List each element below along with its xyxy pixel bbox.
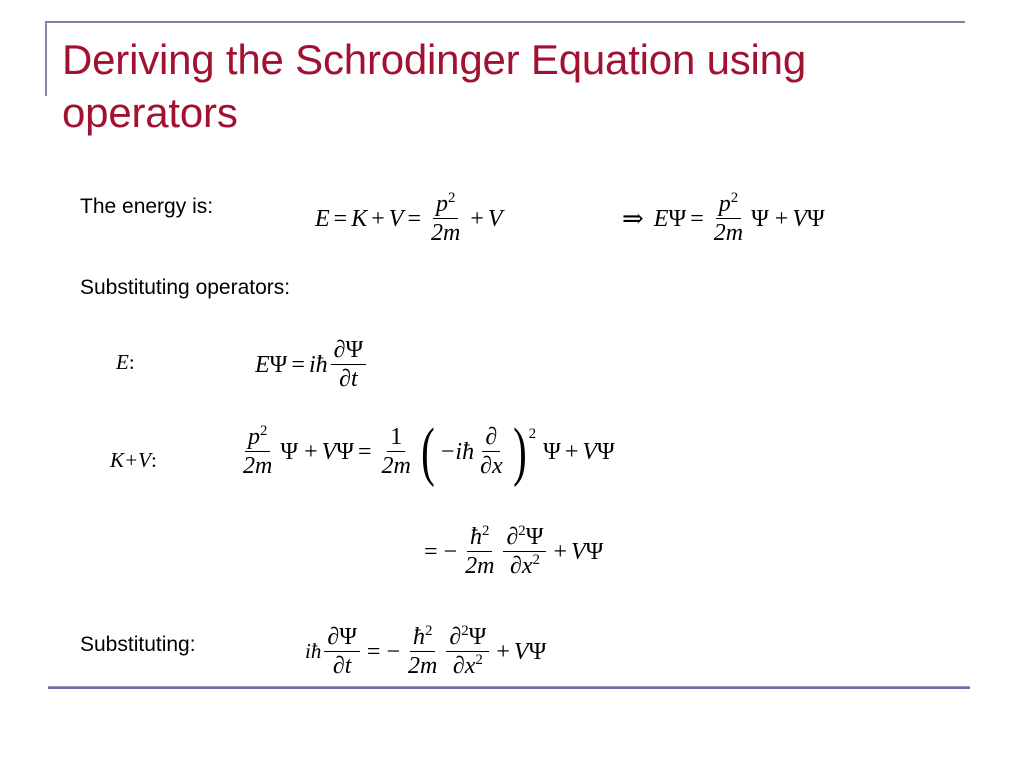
eqE-psi: Ψ: [270, 353, 288, 377]
eq2-psi-3: Ψ: [807, 207, 825, 231]
label-the-energy-is: The energy is:: [80, 195, 213, 219]
slide-canvas: Deriving the Schrodinger Equation using …: [0, 0, 1024, 768]
eqR-psi: Ψ: [586, 540, 604, 564]
eqKV-minus: −: [439, 440, 456, 464]
eqF-plus: +: [492, 640, 514, 664]
eqF-psi: Ψ: [529, 640, 547, 664]
fraction-numerator: p2: [433, 192, 458, 219]
eqR-equals: =: [420, 540, 442, 564]
fraction-denominator: 2m: [379, 452, 414, 479]
eq2-psi-2: Ψ: [749, 207, 771, 231]
eqF-equals: =: [363, 640, 385, 664]
fraction-denominator: ∂x: [477, 452, 506, 479]
fraction-denominator: 2m: [428, 219, 463, 246]
fraction-numerator: ∂Ψ: [331, 338, 367, 365]
equation-kinetic-potential-operator: p2 2m Ψ + V Ψ = 1 2m ( − i ħ ∂ ∂x ) 2 Ψ …: [237, 425, 615, 479]
fraction-denominator: ∂x2: [450, 652, 486, 679]
fraction-hbar2-over-2m-2: ħ2 2m: [405, 625, 440, 679]
top-divider-rule: [45, 21, 965, 23]
fraction-denominator: ∂t: [330, 652, 355, 679]
eq-K: K: [351, 207, 367, 231]
eqKV-plus-1: +: [300, 440, 322, 464]
eqR-minus: −: [442, 540, 460, 564]
equation-energy-with-psi: ⇒ E Ψ = p2 2m Ψ + V Ψ: [622, 192, 825, 246]
equation-energy-definition: E = K + V = p2 2m + V: [315, 192, 503, 246]
equation-schrodinger-final: i ħ ∂Ψ ∂t = − ħ2 2m ∂2Ψ ∂x2 + V Ψ: [305, 625, 546, 679]
numerator-p: p: [436, 191, 448, 217]
numerator-exponent: 2: [260, 423, 267, 439]
fraction-numerator: ∂2Ψ: [503, 525, 546, 552]
denominator-partial-x: ∂x: [510, 553, 533, 579]
eqR-V: V: [571, 540, 586, 564]
fraction-numerator: ∂Ψ: [324, 625, 360, 652]
fraction-p2-over-2m: p2 2m: [428, 192, 463, 246]
eqKV-V-2: V: [582, 440, 597, 464]
row-label-KV-text: K+V: [110, 448, 151, 472]
eqKV-psi-2: Ψ: [336, 440, 354, 464]
numerator-psi: Ψ: [526, 524, 544, 550]
numerator-exponent: 2: [731, 190, 738, 206]
eq2-V: V: [792, 207, 807, 231]
bottom-divider-rule: [48, 686, 970, 689]
denominator-exponent: 2: [532, 552, 539, 568]
fraction-numerator: ∂: [482, 425, 500, 452]
fraction-numerator: p2: [245, 425, 270, 452]
fraction-denominator: ∂t: [336, 365, 361, 392]
paren-open: (: [421, 432, 435, 473]
eq2-psi: Ψ: [668, 207, 686, 231]
left-accent-rule: [45, 22, 47, 96]
eq2-E: E: [644, 207, 669, 231]
label-substituting: Substituting:: [80, 633, 196, 657]
eqE-equals: =: [287, 353, 309, 377]
fraction-numerator: p2: [716, 192, 741, 219]
numerator-psi: Ψ: [469, 624, 487, 650]
eq-equals: =: [330, 207, 352, 231]
eq-plus-2: +: [466, 207, 488, 231]
eqKV-i: i: [455, 440, 462, 464]
eq-V: V: [389, 207, 404, 231]
row-label-E: E:: [116, 350, 135, 375]
numerator-exponent: 2: [425, 623, 432, 639]
eqKV-equals: =: [354, 440, 376, 464]
numerator-exponent: 2: [448, 190, 455, 206]
numerator-exponent: 2: [482, 523, 489, 539]
numerator-p: p: [719, 191, 731, 217]
paren-exponent: 2: [529, 427, 537, 442]
eqKV-V-1: V: [322, 440, 337, 464]
eq2-plus: +: [771, 207, 793, 231]
fraction-numerator: ħ2: [467, 525, 492, 552]
label-substituting-operators: Substituting operators:: [80, 276, 290, 300]
fraction-d-over-dx: ∂ ∂x: [477, 425, 506, 479]
fraction-denominator: 2m: [711, 219, 746, 246]
eqF-minus: −: [384, 640, 402, 664]
eq2-equals: =: [686, 207, 708, 231]
row-label-E-colon: :: [129, 350, 135, 374]
parenthesized-momentum-operator: ( − i ħ ∂ ∂x ) 2: [417, 425, 536, 479]
eqR-plus: +: [549, 540, 571, 564]
row-label-KV-colon: :: [151, 448, 157, 472]
fraction-p2-over-2m-3: p2 2m: [240, 425, 275, 479]
equation-energy-operator: E Ψ = i ħ ∂Ψ ∂t: [255, 338, 369, 392]
denominator-partial-x: ∂x: [453, 653, 476, 679]
row-label-K-plus-V: K+V:: [110, 448, 157, 473]
fraction-dpsi-over-dt-2: ∂Ψ ∂t: [324, 625, 360, 679]
eqKV-hbar: ħ: [462, 440, 474, 464]
denominator-exponent: 2: [475, 652, 482, 668]
row-label-E-text: E: [116, 350, 129, 374]
eqE-hbar: ħ: [316, 353, 328, 377]
slide-title: Deriving the Schrodinger Equation using …: [62, 33, 942, 139]
eqF-hbar: ħ: [311, 641, 322, 662]
fraction-d2psi-over-dx2: ∂2Ψ ∂x2: [503, 525, 546, 579]
fraction-dpsi-over-dt: ∂Ψ ∂t: [331, 338, 367, 392]
numerator-hbar: ħ: [413, 624, 425, 650]
numerator-hbar: ħ: [470, 524, 482, 550]
eqKV-psi-1: Ψ: [278, 440, 300, 464]
fraction-denominator: 2m: [462, 552, 497, 579]
equation-kinetic-potential-result: = − ħ2 2m ∂2Ψ ∂x2 + V Ψ: [420, 525, 603, 579]
eq-E: E: [315, 207, 330, 231]
fraction-d2psi-over-dx2-2: ∂2Ψ ∂x2: [446, 625, 489, 679]
numerator-p: p: [248, 424, 260, 450]
numerator-partial: ∂: [449, 624, 461, 650]
eqE-i: i: [309, 353, 316, 377]
fraction-denominator: 2m: [240, 452, 275, 479]
fraction-denominator: ∂x2: [507, 552, 543, 579]
eq-V-2: V: [488, 207, 503, 231]
fraction-1-over-2m: 1 2m: [379, 425, 414, 479]
eq-plus: +: [367, 207, 389, 231]
fraction-numerator: 1: [387, 425, 405, 452]
eqKV-psi-3: Ψ: [536, 440, 561, 464]
fraction-numerator: ħ2: [410, 625, 435, 652]
fraction-p2-over-2m-2: p2 2m: [711, 192, 746, 246]
fraction-numerator: ∂2Ψ: [446, 625, 489, 652]
implies-arrow-icon: ⇒: [622, 206, 644, 232]
numerator-partial: ∂: [506, 524, 518, 550]
fraction-denominator: 2m: [405, 652, 440, 679]
eqE-E: E: [255, 353, 270, 377]
numerator-exponent: 2: [461, 623, 468, 639]
eq-equals-2: =: [403, 207, 425, 231]
paren-close: ): [513, 432, 527, 473]
eqF-V: V: [514, 640, 529, 664]
fraction-hbar2-over-2m: ħ2 2m: [462, 525, 497, 579]
eqKV-psi-4: Ψ: [597, 440, 615, 464]
numerator-exponent: 2: [518, 523, 525, 539]
eqKV-plus-2: +: [561, 440, 583, 464]
